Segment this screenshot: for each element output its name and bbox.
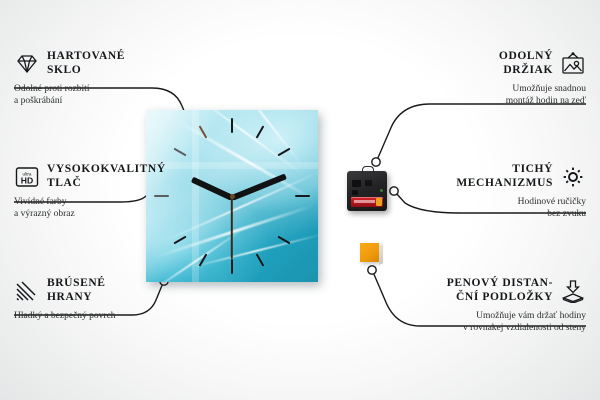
product-clock-mechanism bbox=[347, 171, 387, 211]
foam-pad-icon bbox=[560, 279, 586, 303]
feature-foam-spacers: PENOVÝ DISTAN- ČNÍ PODLOŽKY Umožňuje vám… bbox=[386, 277, 586, 334]
clock-second-hand bbox=[231, 197, 233, 259]
feature-high-quality-print: ultra HD VYSOKOKVALITNÝ TLAČ Vivídné far… bbox=[14, 163, 204, 220]
mechanism-slot bbox=[352, 190, 358, 195]
clock-tick bbox=[173, 148, 186, 157]
feature-description: Vivídné farby a výrazný obraz bbox=[14, 197, 204, 220]
battery-terminal bbox=[376, 198, 382, 206]
feature-title: HARTOVANÉ SKLO bbox=[47, 50, 125, 77]
feature-title: PENOVÝ DISTAN- ČNÍ PODLOŽKY bbox=[447, 277, 553, 304]
mechanism-slot bbox=[352, 180, 361, 187]
clock-tick bbox=[256, 253, 265, 266]
clock-tick bbox=[295, 195, 310, 197]
node-right-foam bbox=[368, 266, 376, 274]
brushed-edges-icon bbox=[14, 279, 40, 303]
feature-description: Hodinové ručičky bez zvuku bbox=[396, 197, 586, 220]
ultra-hd-icon: ultra HD bbox=[14, 165, 40, 189]
gear-icon bbox=[560, 165, 586, 189]
clock-tick bbox=[231, 118, 233, 133]
feature-description: Hladký a bezpečný povrch bbox=[14, 311, 204, 323]
feature-title: VYSOKOKVALITNÝ TLAČ bbox=[47, 163, 166, 190]
picture-hanger-icon bbox=[560, 52, 586, 76]
feature-durable-holder: ODOLNÝ DRŽIAK Umožňuje snadnou montáž ho… bbox=[396, 50, 586, 107]
mechanism-indicator bbox=[380, 189, 383, 192]
feature-title: ODOLNÝ DRŽIAK bbox=[499, 50, 553, 77]
product-foam-pad bbox=[360, 243, 379, 262]
feature-description: Odolné proti rozbití a poškrábání bbox=[14, 84, 204, 107]
foam-pad-side bbox=[379, 244, 383, 265]
wire-right-holder bbox=[377, 104, 586, 160]
feature-silent-mechanism: TICHÝ MECHANIZMUS Hodinové ručičky bez z… bbox=[396, 163, 586, 220]
diamond-icon bbox=[14, 52, 40, 76]
clock-tick bbox=[231, 259, 233, 274]
battery-label bbox=[354, 200, 375, 203]
feature-description: Umožňuje vám držať hodiny v rovnakej vzd… bbox=[386, 311, 586, 334]
node-right-holder bbox=[372, 158, 380, 166]
feature-tempered-glass: HARTOVANÉ SKLO Odolné proti rozbití a po… bbox=[14, 50, 204, 107]
clock-hand-hub bbox=[230, 194, 235, 199]
feature-title: BRÚSENÉ HRANY bbox=[47, 277, 106, 304]
clock-tick bbox=[277, 148, 290, 157]
mechanism-slot bbox=[365, 180, 372, 186]
infographic-stage: HARTOVANÉ SKLO Odolné proti rozbití a po… bbox=[0, 0, 600, 400]
product-battery bbox=[351, 197, 383, 207]
mechanism-shaft bbox=[362, 166, 374, 174]
feature-description: Umožňuje snadnou montáž hodin na zeď bbox=[396, 84, 586, 107]
feature-brushed-edges: BRÚSENÉ HRANY Hladký a bezpečný povrch bbox=[14, 277, 204, 323]
clock-tick bbox=[256, 125, 265, 138]
feature-title: TICHÝ MECHANIZMUS bbox=[456, 163, 553, 190]
svg-text:HD: HD bbox=[21, 175, 33, 185]
